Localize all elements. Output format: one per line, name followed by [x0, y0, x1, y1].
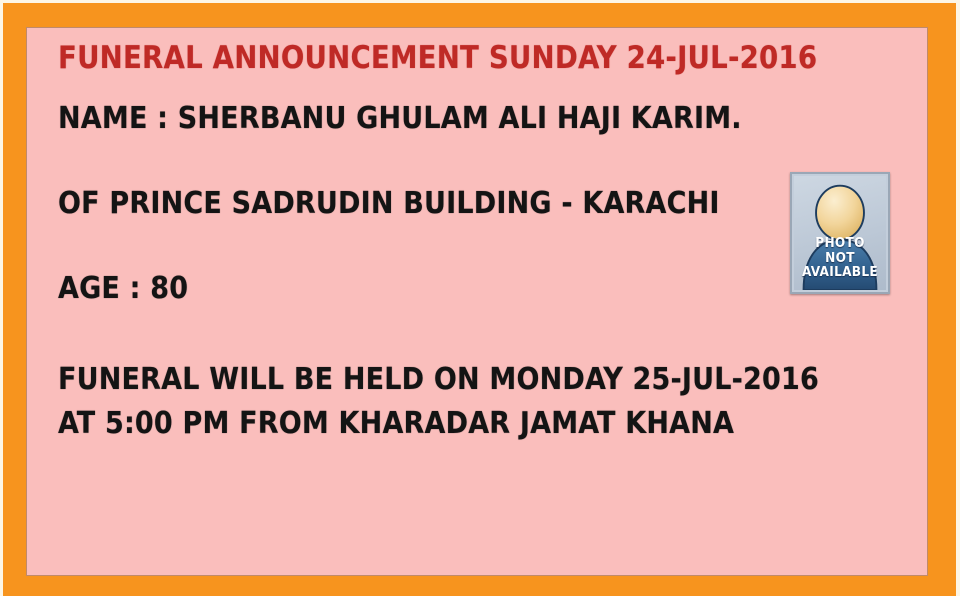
photo-placeholder: PHOTO NOT AVAILABLE	[790, 172, 890, 294]
announcement-text-block: FUNERAL ANNOUNCEMENT SUNDAY 24-JUL-2016 …	[58, 40, 917, 441]
person-silhouette-icon	[794, 176, 886, 290]
photo-placeholder-background: PHOTO NOT AVAILABLE	[794, 176, 886, 290]
deceased-address-line: OF PRINCE SADRUDIN BUILDING - KARACHI	[58, 186, 917, 221]
funeral-location-line: AT 5:00 PM FROM KHARADAR JAMAT KHANA	[58, 406, 917, 441]
announcement-title: FUNERAL ANNOUNCEMENT SUNDAY 24-JUL-2016	[58, 40, 908, 76]
announcement-panel: FUNERAL ANNOUNCEMENT SUNDAY 24-JUL-2016 …	[26, 27, 928, 576]
funeral-announcement-poster: FUNERAL ANNOUNCEMENT SUNDAY 24-JUL-2016 …	[0, 0, 960, 596]
deceased-age-line: AGE : 80	[58, 271, 917, 306]
funeral-date-line: FUNERAL WILL BE HELD ON MONDAY 25-JUL-20…	[58, 362, 917, 397]
deceased-name-line: NAME : SHERBANU GHULAM ALI HAJI KARIM.	[58, 101, 917, 136]
orange-frame-border: FUNERAL ANNOUNCEMENT SUNDAY 24-JUL-2016 …	[3, 3, 956, 596]
